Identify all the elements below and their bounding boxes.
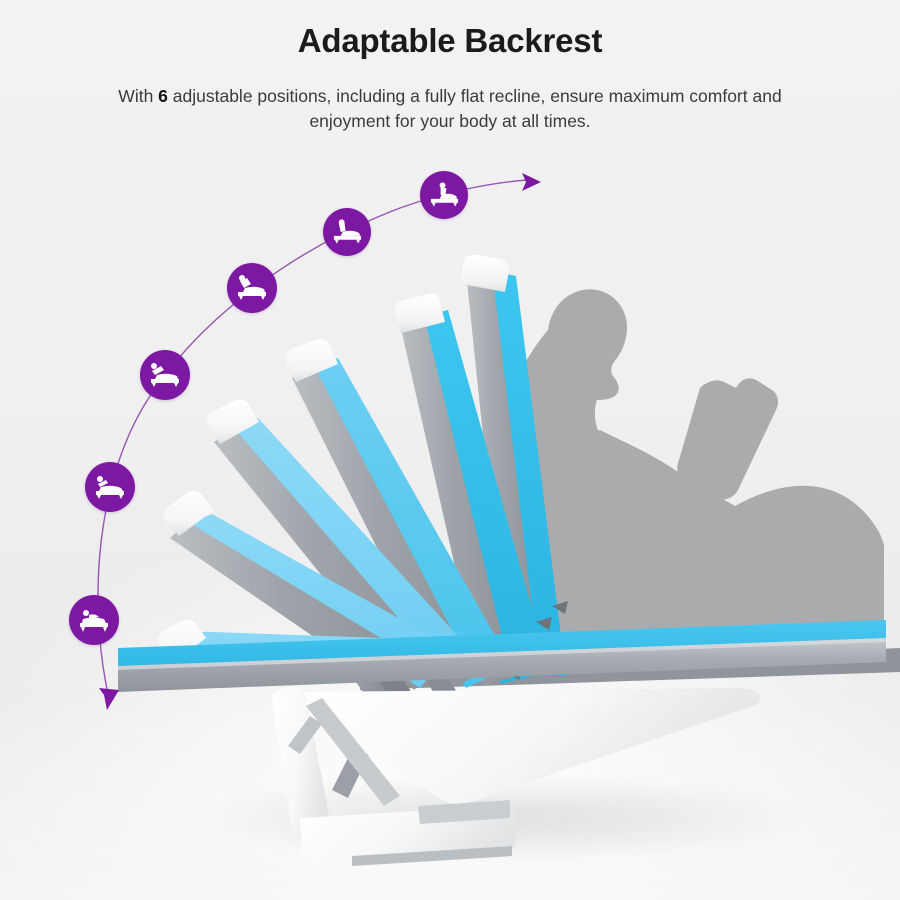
person-reclined-18-icon bbox=[93, 474, 127, 500]
position-flat[interactable] bbox=[69, 595, 119, 645]
position-slight-recline[interactable] bbox=[85, 462, 135, 512]
person-lying-flat-icon bbox=[77, 607, 111, 633]
person-sitting-upright-icon bbox=[428, 182, 461, 208]
position-mid-recline[interactable] bbox=[227, 263, 277, 313]
person-reclined-34-icon bbox=[148, 362, 182, 388]
position-high-recline[interactable] bbox=[323, 208, 371, 256]
flat-direction-arrow bbox=[99, 688, 119, 710]
person-reclined-50-icon bbox=[235, 275, 269, 301]
product-feature-image: Adaptable Backrest With 6 adjustable pos… bbox=[0, 0, 900, 900]
position-low-recline[interactable] bbox=[140, 350, 190, 400]
position-upright[interactable] bbox=[420, 171, 468, 219]
upright-direction-arrow bbox=[522, 173, 541, 191]
product-illustration bbox=[0, 0, 900, 900]
person-reclined-66-icon bbox=[331, 219, 364, 245]
